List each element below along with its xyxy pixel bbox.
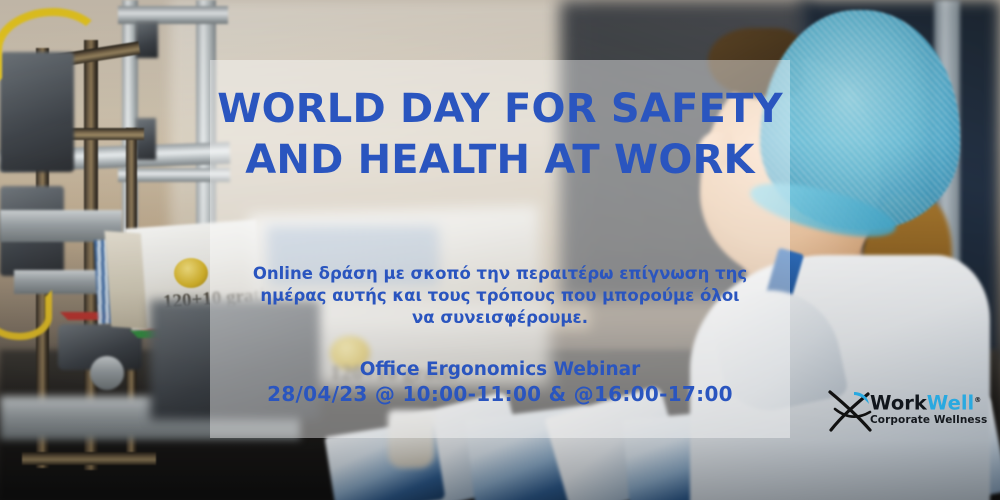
poster-canvas: 120+10 gratis 120+10 gratis bbox=[0, 0, 1000, 500]
event-datetime: 28/04/23 @ 10:00-11:00 & @16:00-17:00 bbox=[250, 382, 750, 406]
registered-trademark-icon: ® bbox=[974, 396, 981, 404]
page-title: WORLD DAY FOR SAFETY AND HEALTH AT WORK bbox=[0, 84, 1000, 186]
title-line-2: AND HEALTH AT WORK bbox=[0, 135, 1000, 186]
workwell-x-swoosh-mark-icon bbox=[826, 388, 874, 434]
workwell-wordmark: WorkWell® bbox=[870, 390, 981, 414]
poster-content: WORLD DAY FOR SAFETY AND HEALTH AT WORK … bbox=[0, 0, 1000, 500]
logo-tagline: Corporate Wellness bbox=[870, 414, 987, 426]
logo-word-work: Work bbox=[870, 392, 927, 415]
subtitle-text: Online δράση με σκοπό την περαιτέρω επίγ… bbox=[252, 263, 748, 329]
logo-word-well: Well bbox=[927, 392, 974, 415]
event-block: Office Ergonomics Webinar 28/04/23 @ 10:… bbox=[250, 358, 750, 406]
workwell-logo: WorkWell® Corporate Wellness bbox=[826, 386, 982, 444]
event-name: Office Ergonomics Webinar bbox=[360, 359, 641, 380]
title-line-1: WORLD DAY FOR SAFETY bbox=[0, 84, 1000, 135]
